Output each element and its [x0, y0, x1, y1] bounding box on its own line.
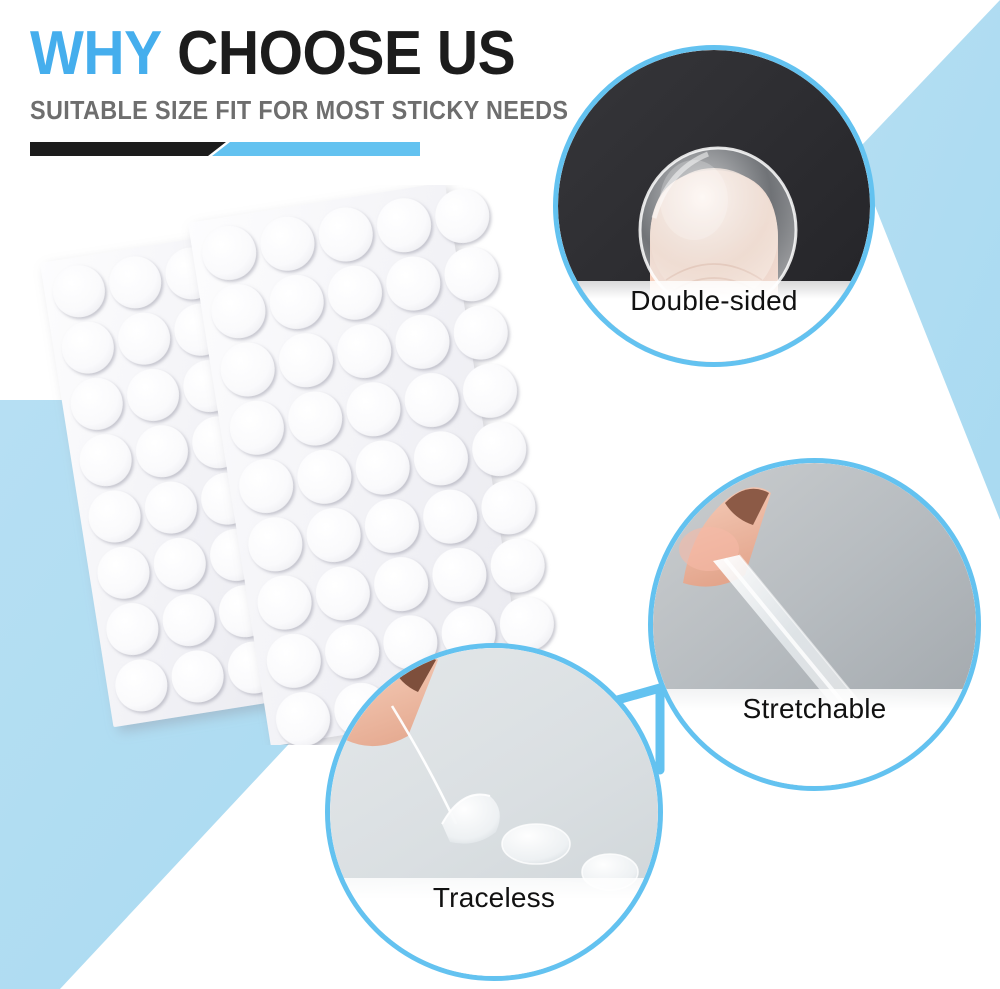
callout-label-traceless: Traceless: [433, 882, 555, 914]
header: WHY CHOOSE US SUITABLE SIZE FIT FOR MOST…: [30, 24, 628, 156]
callout-stretchable[interactable]: Stretchable: [648, 458, 981, 791]
callout-traceless[interactable]: Traceless: [325, 643, 663, 981]
callout-label-stretchable: Stretchable: [743, 693, 887, 725]
callout-double-sided[interactable]: Double-sided: [553, 45, 875, 367]
callout-label-band: Traceless: [330, 878, 658, 976]
callout-label-band: Double-sided: [558, 281, 870, 362]
divider-dark-segment: [30, 142, 226, 156]
callout-label-double-sided: Double-sided: [630, 285, 797, 317]
divider-blue-segment: [212, 142, 420, 156]
title-dark-words: CHOOSE US: [177, 19, 515, 88]
header-divider: [30, 142, 420, 156]
page-title: WHY CHOOSE US: [30, 24, 580, 85]
callout-label-band: Stretchable: [653, 689, 976, 786]
page-subtitle: SUITABLE SIZE FIT FOR MOST STICKY NEEDS: [30, 95, 568, 126]
title-blue-word: WHY: [30, 19, 162, 88]
